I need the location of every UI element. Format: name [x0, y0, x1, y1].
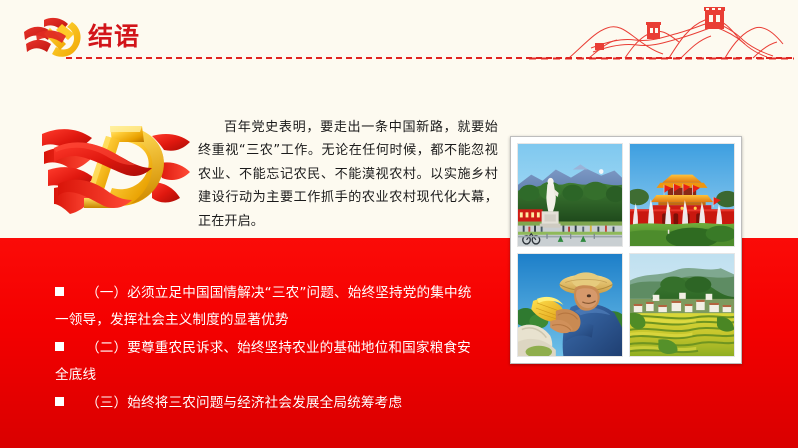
list-item: （三）始终将三农问题与经济社会发展全局统筹考虑	[55, 390, 475, 417]
photo-terraced-fields	[629, 253, 735, 357]
photo-collage	[510, 136, 742, 364]
party-hammer-sickle-icon	[22, 14, 88, 60]
list-item-text: （三）始终将三农问题与经济社会发展全局统筹考虑	[86, 395, 402, 411]
photo-mao-statue-plaza	[517, 143, 623, 247]
list-item-text: （一）必须立足中国国情解决“三农”问题、始终坚持党的集中统一领导，发挥社会主义制…	[55, 285, 471, 328]
list-item-text: （二）要尊重农民诉求、始终坚持农业的基础地位和国家粮食安全底线	[55, 340, 471, 383]
photo-tiananmen-fountains	[629, 143, 735, 247]
party-emblem-3d-ribbon-icon	[40, 112, 190, 220]
slide-canvas: 结语	[0, 0, 798, 448]
list-item: （二）要尊重农民诉求、始终坚持农业的基础地位和国家粮食安全底线	[55, 335, 475, 388]
conclusion-bullet-list: （一）必须立足中国国情解决“三农”问题、始终坚持党的集中统一领导，发挥社会主义制…	[55, 280, 475, 419]
slide-header: 结语	[0, 0, 798, 75]
list-item: （一）必须立足中国国情解决“三农”问题、始终坚持党的集中统一领导，发挥社会主义制…	[55, 280, 475, 333]
white-square-bullet-icon	[55, 342, 64, 351]
photo-farmer-corn	[517, 253, 623, 357]
white-square-bullet-icon	[55, 287, 64, 296]
great-wall-lineart-icon	[529, 2, 794, 60]
intro-paragraph: 百年党史表明，要走出一条中国新路，就要始终重视“三农”工作。无论在任何时候，都不…	[198, 116, 498, 233]
white-square-bullet-icon	[55, 397, 64, 406]
page-title: 结语	[88, 22, 140, 52]
